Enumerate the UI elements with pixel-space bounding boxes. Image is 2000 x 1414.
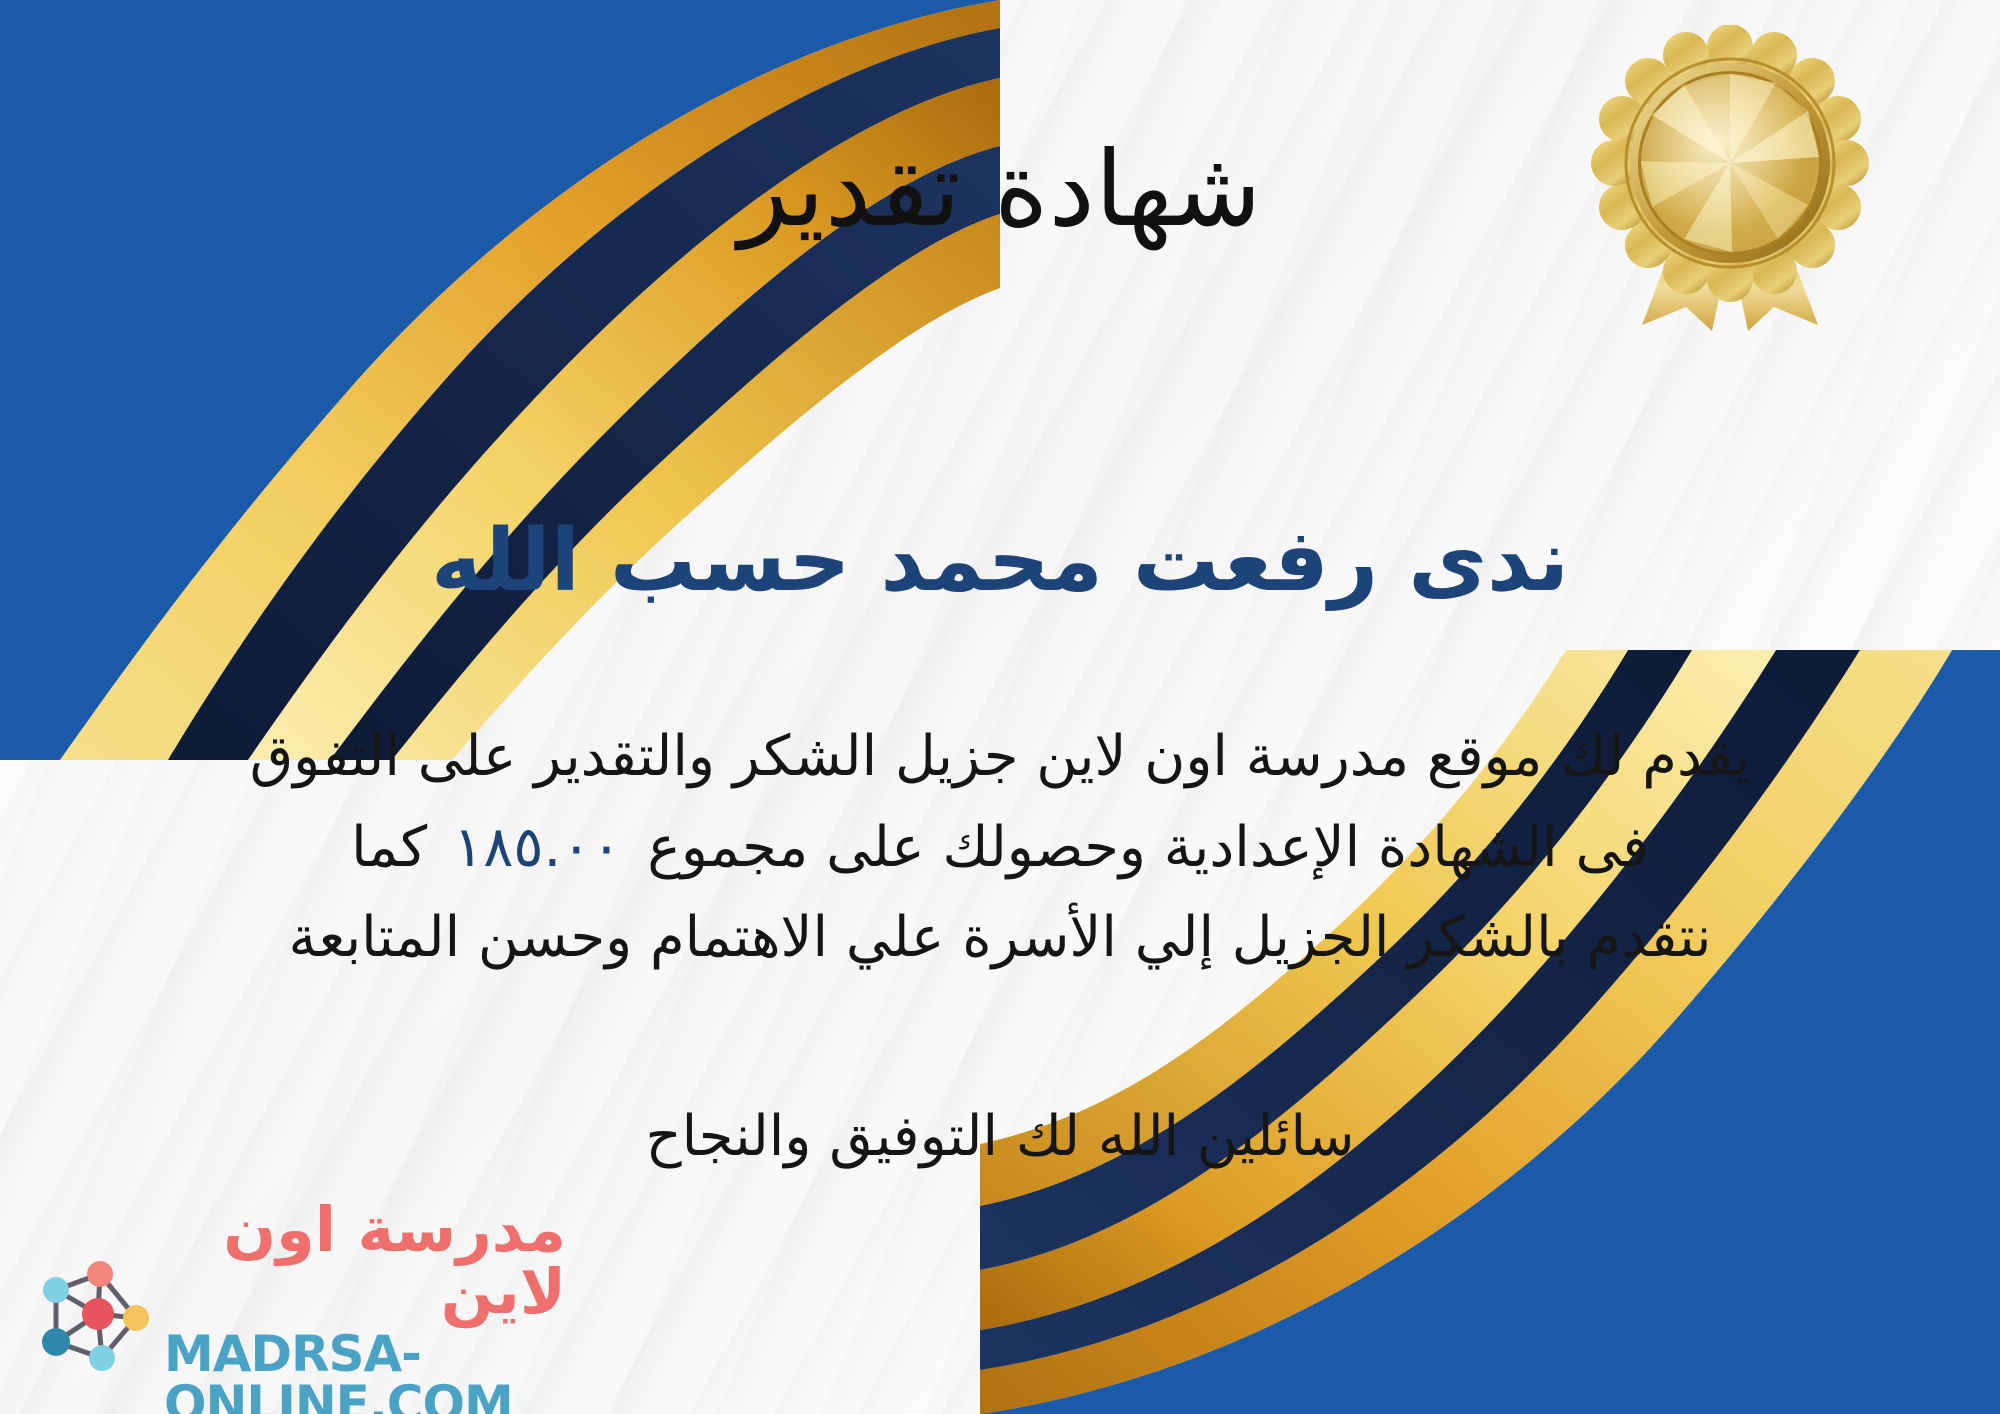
certificate-canvas: شهادة تقدير ندى رفعت محمد حسب الله يقدم … (0, 0, 2000, 1414)
recipient-name: ندى رفعت محمد حسب الله (0, 510, 2000, 613)
body-line-3: نتقدم بالشكر الجزيل إلي الأسرة علي الاهت… (70, 893, 1930, 984)
page-title: شهادة تقدير (0, 130, 2000, 250)
body-line-2-prefix: فى الشهادة الإعدادية وحصولك على مجموع (647, 815, 1649, 880)
brand-logo[interactable]: مدرسة اون لاين MADRSA-ONLINE.COM (26, 1234, 566, 1394)
body-line-1: يقدم لك موقع مدرسة اون لاين جزيل الشكر و… (70, 712, 1930, 803)
score-value: ١٨٥.٠٠ (427, 815, 647, 880)
brand-arabic-name: مدرسة اون لاين (164, 1199, 566, 1323)
certificate-body: يقدم لك موقع مدرسة اون لاين جزيل الشكر و… (70, 712, 1930, 984)
brand-website: MADRSA-ONLINE.COM (164, 1329, 566, 1414)
body-line-2-suffix: كما (351, 815, 427, 880)
body-line-2: فى الشهادة الإعدادية وحصولك على مجموع١٨٥… (70, 803, 1930, 894)
network-nodes-icon (26, 1250, 154, 1378)
closing-line: سائلين الله لك التوفيق والنجاح (0, 1095, 2000, 1179)
brand-text-group: مدرسة اون لاين MADRSA-ONLINE.COM (164, 1199, 566, 1414)
